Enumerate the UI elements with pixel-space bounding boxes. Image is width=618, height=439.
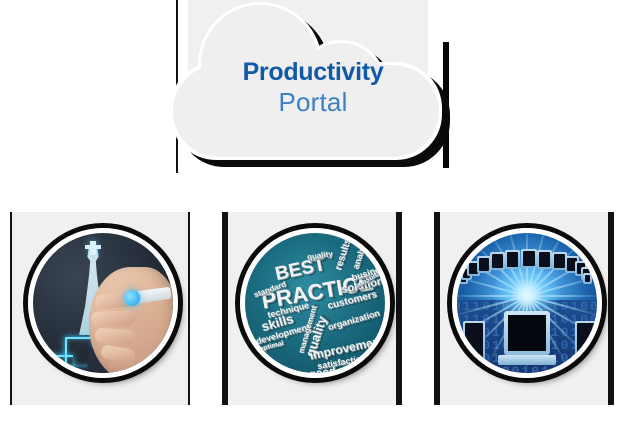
tile-network[interactable]: 1011010010110100101101001011010010110100…	[434, 212, 614, 405]
chess-king-cross-icon	[90, 241, 96, 255]
monitor-icon	[490, 252, 505, 270]
header-banner: Productivity Portal	[0, 0, 618, 196]
tile-edge-left	[222, 212, 228, 405]
tile-edge-left	[10, 212, 12, 405]
monitor-icon	[463, 321, 485, 361]
network-artwork: 1011010010110100101101001011010010110100…	[457, 233, 597, 373]
best-practice-artwork: BESTPRACTICEqualityresultsanalysisbusine…	[245, 233, 385, 373]
tile-edge-right	[396, 212, 402, 405]
tile-edge-right	[608, 212, 614, 405]
monitor-icon	[583, 273, 592, 284]
word-cloud-term: good	[308, 365, 336, 378]
tile-edge-right	[188, 212, 190, 405]
word-cloud: BESTPRACTICEqualityresultsanalysisbusine…	[245, 233, 385, 373]
tile-best-practice-thumbnail[interactable]: BESTPRACTICEqualityresultsanalysisbusine…	[240, 228, 390, 378]
strategy-artwork	[33, 233, 173, 373]
monitor-icon	[575, 321, 597, 361]
tile-strategy-thumbnail[interactable]	[28, 228, 178, 378]
word-cloud-term: analysis	[351, 234, 371, 271]
keyboard-icon	[498, 355, 556, 365]
brand-line-primary: Productivity	[168, 60, 458, 85]
front-monitor-icon	[504, 311, 550, 355]
word-cloud-term: quality	[306, 249, 333, 262]
brand-wordmark: Productivity Portal	[168, 60, 458, 115]
monitor-icon	[477, 256, 491, 273]
tile-network-thumbnail[interactable]: 1011010010110100101101001011010010110100…	[452, 228, 602, 378]
monitor-icon	[505, 250, 520, 269]
monitor-icon	[521, 249, 537, 268]
tile-strategy[interactable]	[10, 212, 190, 405]
hand	[89, 267, 178, 378]
tile-edge-left	[434, 212, 440, 405]
tile-row: BESTPRACTICEqualityresultsanalysisbusine…	[0, 212, 618, 408]
tile-best-practice[interactable]: BESTPRACTICEqualityresultsanalysisbusine…	[222, 212, 402, 405]
monitor-icon	[537, 250, 552, 269]
word-cloud-term: organization	[327, 308, 381, 332]
brand-line-secondary: Portal	[168, 89, 458, 115]
